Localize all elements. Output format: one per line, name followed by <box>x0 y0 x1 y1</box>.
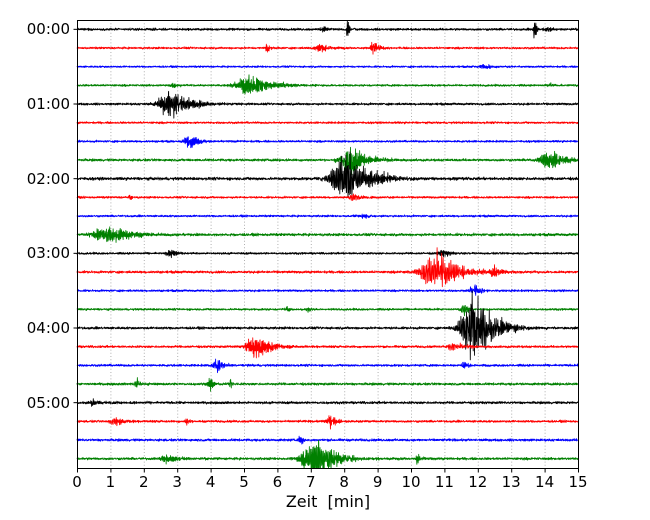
x-tick-label-9: 9 <box>373 473 383 491</box>
seismogram-plot-area <box>0 0 650 520</box>
x-tick-label-8: 8 <box>339 473 349 491</box>
x-tick-label-11: 11 <box>435 473 454 491</box>
x-tick-label-4: 4 <box>206 473 216 491</box>
x-tick-label-14: 14 <box>535 473 554 491</box>
x-tick-label-5: 5 <box>239 473 249 491</box>
x-tick-label-3: 3 <box>172 473 182 491</box>
x-tick-label-0: 0 <box>72 473 82 491</box>
x-tick-label-6: 6 <box>273 473 283 491</box>
x-tick-label-12: 12 <box>468 473 487 491</box>
x-tick-label-1: 1 <box>106 473 116 491</box>
x-tick-label-13: 13 <box>502 473 521 491</box>
seismogram-figure: UTC (Lokalzeit = UTC + 01:00) 00:0001:00… <box>0 0 650 520</box>
x-tick-label-7: 7 <box>306 473 316 491</box>
x-tick-label-15: 15 <box>568 473 587 491</box>
x-tick-label-10: 10 <box>401 473 420 491</box>
x-tick-label-2: 2 <box>139 473 149 491</box>
x-axis-label: Zeit [min] <box>77 492 579 511</box>
